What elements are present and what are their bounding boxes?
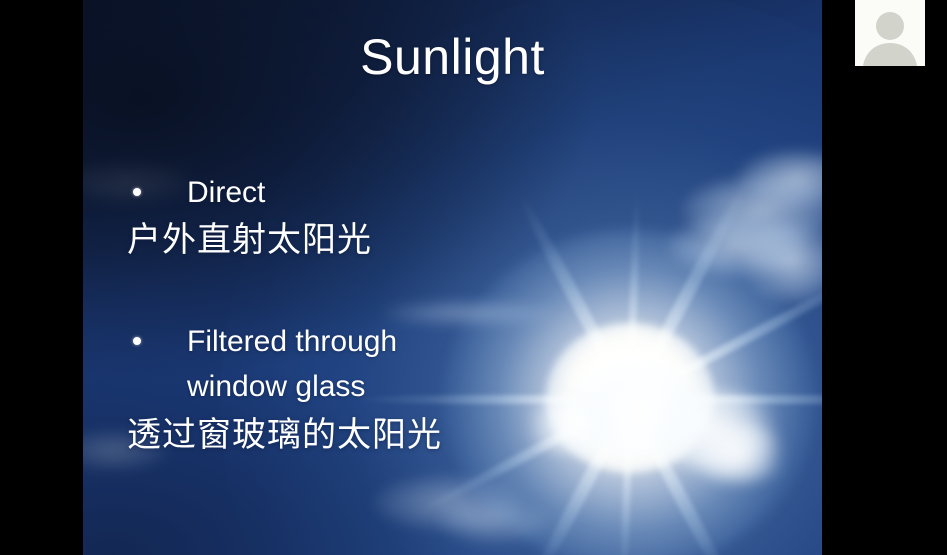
bullet-item: Filtered through [127,319,687,364]
letterbox-bar-right [822,0,947,555]
bullet-text: Filtered through [187,325,397,358]
bullet-group-direct: Direct 户外直射太阳光 [127,170,687,263]
bullet-translation: 透过窗玻璃的太阳光 [127,412,687,458]
bullet-translation: 户外直射太阳光 [127,217,687,263]
shared-slide-stage[interactable]: Sunlight Direct 户外直射太阳光 Filtered through… [83,0,822,555]
slide-body: Direct 户外直射太阳光 Filtered through window g… [127,170,687,458]
bullet-group-filtered: Filtered through window glass 透过窗玻璃的太阳光 [127,319,687,458]
bullet-item: Direct [127,170,687,215]
bullet-dot-icon [133,188,141,196]
participant-video-thumbnail[interactable] [855,0,925,66]
bullet-text: Direct [187,176,265,209]
default-person-avatar-icon [855,0,925,66]
slide-title: Sunlight [83,30,822,85]
bullet-dot-icon [133,337,141,345]
bullet-text-continuation: window glass [127,364,687,410]
video-meeting-screen: Sunlight Direct 户外直射太阳光 Filtered through… [0,0,947,555]
letterbox-bar-left [0,0,83,555]
